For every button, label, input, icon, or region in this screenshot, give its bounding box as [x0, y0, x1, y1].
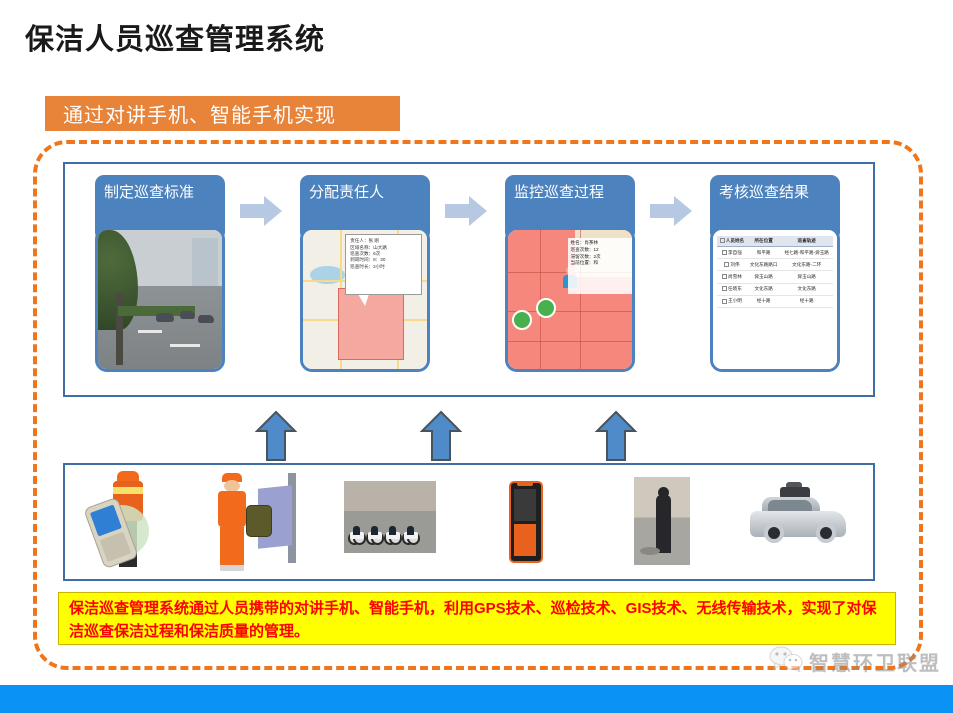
section-banner: 通过对讲手机、智能手机实现 [45, 96, 400, 131]
up-arrow-1 [255, 410, 297, 462]
up-arrow-3 [595, 410, 637, 462]
col-header-2: 巡查轨迹 [780, 236, 833, 247]
equipment-item-worker-with-walkie-talkie-phone [65, 465, 200, 579]
table-row: 任晓东 文化东路 文化东路 [717, 283, 833, 295]
bottom-bar [0, 685, 953, 713]
popup-line-5: 巡查时长：2小时 [350, 264, 418, 270]
table-header-row: 人员姓名 所在位置 巡查轨迹 [717, 236, 833, 247]
wechat-icon [769, 646, 803, 677]
map-assignment-screenshot: 责任人：张 刚 区域名称：山大路 巡查次数：6次 到岗时间：8：30 巡查时长：… [300, 227, 430, 372]
col-header-0: 人员姓名 [717, 236, 747, 247]
flow-arrow-3 [650, 196, 692, 226]
table-row: 王小明 经十路 经十路 [717, 295, 833, 307]
street-photo [95, 227, 225, 372]
equipment-panel [63, 463, 875, 581]
gis-info-line-1: 姓名：肖茶林 [571, 240, 630, 247]
flow-step-3[interactable]: 监控巡查过程 姓名：肖茶林 巡查次数：12 滞留次数：2次 当前位置：和 [505, 175, 635, 390]
flow-arrow-1 [240, 196, 282, 226]
summary-note: 保洁巡查管理系统通过人员携带的对讲手机、智能手机，利用GPS技术、巡检技术、GI… [58, 592, 896, 645]
banner-label: 通过对讲手机、智能手机实现 [63, 99, 336, 128]
result-table: 人员姓名 所在位置 巡查轨迹 李自强 和平路 经七路-和平路-舜玉路 刘伟 文化… [717, 236, 833, 308]
location-marker-icon [536, 298, 556, 318]
map-popup: 责任人：张 刚 区域名称：山大路 巡查次数：6次 到岗时间：8：30 巡查时长：… [345, 234, 422, 295]
flow-arrow-2 [445, 196, 487, 226]
gis-info-line-2: 巡查次数：12 [571, 247, 630, 254]
inspection-result-table-screenshot: 人员姓名 所在位置 巡查轨迹 李自强 和平路 经七路-和平路-舜玉路 刘伟 文化… [710, 227, 840, 372]
equipment-item-worker-uniform-and-rfid-tag [200, 465, 335, 579]
watermark-text: 智慧环卫联盟 [809, 647, 941, 676]
equipment-item-rugged-pda-handheld [469, 465, 604, 579]
gis-monitoring-screenshot: 姓名：肖茶林 巡查次数：12 滞留次数：2次 当前位置：和 [505, 227, 635, 372]
col-header-1: 所在位置 [747, 236, 781, 247]
up-arrow-2 [420, 410, 462, 462]
page-title: 保洁人员巡查管理系统 [25, 16, 325, 58]
equipment-item-patrol-vehicle-with-camera [738, 465, 873, 579]
table-row: 李自强 和平路 经七路-和平路-舜玉路 [717, 247, 833, 259]
gis-info-panel: 姓名：肖茶林 巡查次数：12 滞留次数：2次 当前位置：和 [568, 238, 632, 294]
flow-step-4[interactable]: 考核巡查结果 人员姓名 所在位置 巡查轨迹 李自强 和平路 经七路-和平路-舜玉… [710, 175, 840, 390]
flow-step-2[interactable]: 分配责任人 责任人：张 刚 区域名称：山大路 巡查次数：6次 到岗时间：8：30… [300, 175, 430, 390]
location-marker-icon [512, 310, 532, 330]
table-row: 刘伟 文化东路路口 文化东路-二环 [717, 259, 833, 271]
equipment-item-patrol-motorcycles [334, 465, 469, 579]
table-row: 尚雪林 舜玉山路 舜玉山路 [717, 271, 833, 283]
flow-step-1[interactable]: 制定巡查标准 [95, 175, 225, 390]
gis-info-line-4: 当前位置：和 [571, 260, 630, 267]
summary-note-text: 保洁巡查管理系统通过人员携带的对讲手机、智能手机，利用GPS技术、巡检技术、GI… [69, 600, 877, 640]
equipment-item-inspector-at-manhole [604, 465, 739, 579]
watermark: 智慧环卫联盟 [769, 646, 941, 677]
